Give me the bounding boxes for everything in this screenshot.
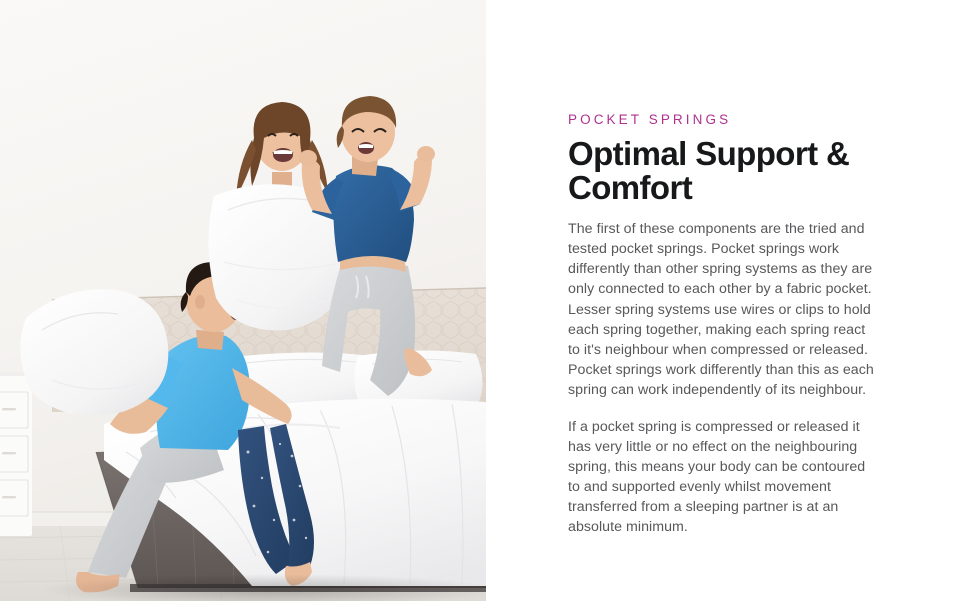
page-title: Optimal Support & Comfort [568, 137, 868, 205]
feature-text-panel: POCKET SPRINGS Optimal Support & Comfort… [486, 0, 970, 601]
feature-photo [0, 0, 486, 601]
section-eyebrow: POCKET SPRINGS [568, 112, 884, 128]
held-pillow-left [20, 289, 168, 415]
nightstand [0, 372, 32, 536]
body-copy: The first of these components are the tr… [568, 219, 884, 537]
bedroom-pillow-fight-illustration [0, 0, 486, 601]
paragraph-1: The first of these components are the tr… [568, 219, 880, 400]
pocket-springs-feature-section: POCKET SPRINGS Optimal Support & Comfort… [0, 0, 970, 601]
paragraph-2: If a pocket spring is compressed or rele… [568, 417, 880, 538]
